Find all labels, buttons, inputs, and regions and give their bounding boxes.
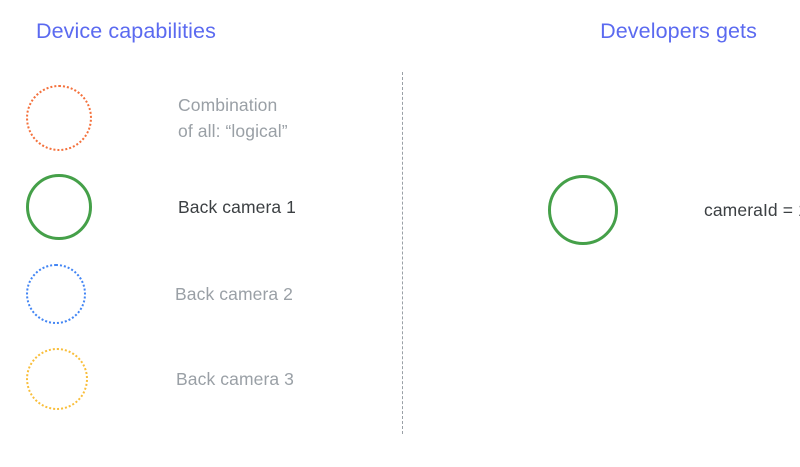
back-camera-2-circle-icon xyxy=(26,264,86,324)
result-camera-circle-icon xyxy=(548,175,618,245)
capability-row-label: Combination of all: “logical” xyxy=(178,92,288,144)
capability-row-label: Back camera 3 xyxy=(176,366,294,392)
device-capabilities-header: Device capabilities xyxy=(36,19,216,44)
capability-row: Combination of all: “logical” xyxy=(26,85,288,151)
capability-row: Back camera 2 xyxy=(26,264,293,324)
logical-camera-circle-icon xyxy=(26,85,92,151)
capability-row: Back camera 1 xyxy=(26,174,296,240)
result-camera-label: cameraId = 1 xyxy=(704,200,800,221)
developer-result-row: cameraId = 1 xyxy=(548,175,800,245)
diagram-canvas: Device capabilities Developers gets Comb… xyxy=(0,0,800,467)
capability-row-label: Back camera 1 xyxy=(178,194,296,220)
back-camera-1-circle-icon xyxy=(26,174,92,240)
column-divider xyxy=(402,72,403,434)
capability-row-label: Back camera 2 xyxy=(175,281,293,307)
back-camera-3-circle-icon xyxy=(26,348,88,410)
developers-gets-header: Developers gets xyxy=(600,19,757,44)
capability-row: Back camera 3 xyxy=(26,348,294,410)
